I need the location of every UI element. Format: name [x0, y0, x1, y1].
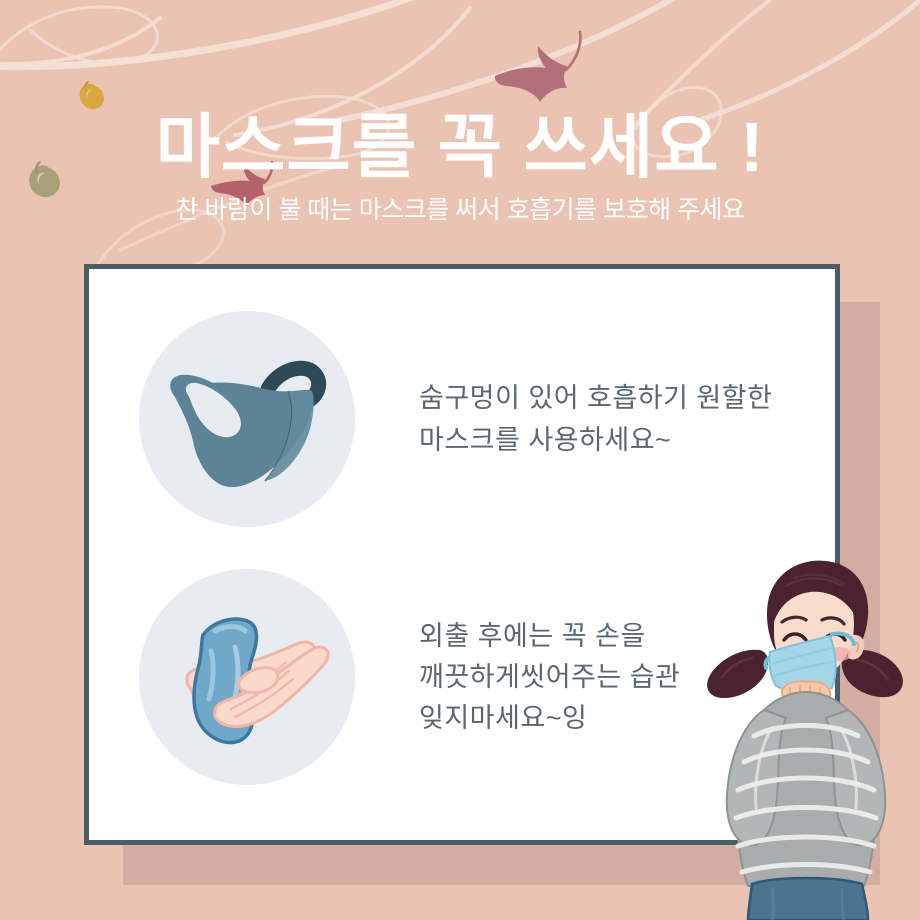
tip-row-wash: 외출 후에는 꼭 손을 깨끗하게씻어주는 습관 잊지마세요~잉: [139, 569, 680, 785]
page-title: 마스크를 꼭 쓰세요 !: [0, 112, 920, 182]
rose-maple-leaf: [495, 32, 581, 102]
girl-wearing-mask: [690, 540, 920, 920]
tip-text-mask: 숨구멍이 있어 호흡하기 원할한 마스크를 사용하세요~: [419, 377, 772, 461]
tip-row-mask: 숨구멍이 있어 호흡하기 원할한 마스크를 사용하세요~: [139, 311, 772, 527]
fabric-mask-icon: [139, 311, 355, 527]
tip-text-wash: 외출 후에는 꼭 손을 깨끗하게씻어주는 습관 잊지마세요~잉: [419, 616, 680, 739]
page-subtitle: 찬 바람이 불 때는 마스크를 써서 호흡기를 보호해 주세요: [0, 196, 920, 224]
gold-crescent-leaf: [80, 82, 104, 109]
washing-hands-icon: [139, 569, 355, 785]
poster: 마스크를 꼭 쓰세요 ! 찬 바람이 불 때는 마스크를 써서 호흡기를 보호해…: [0, 0, 920, 920]
